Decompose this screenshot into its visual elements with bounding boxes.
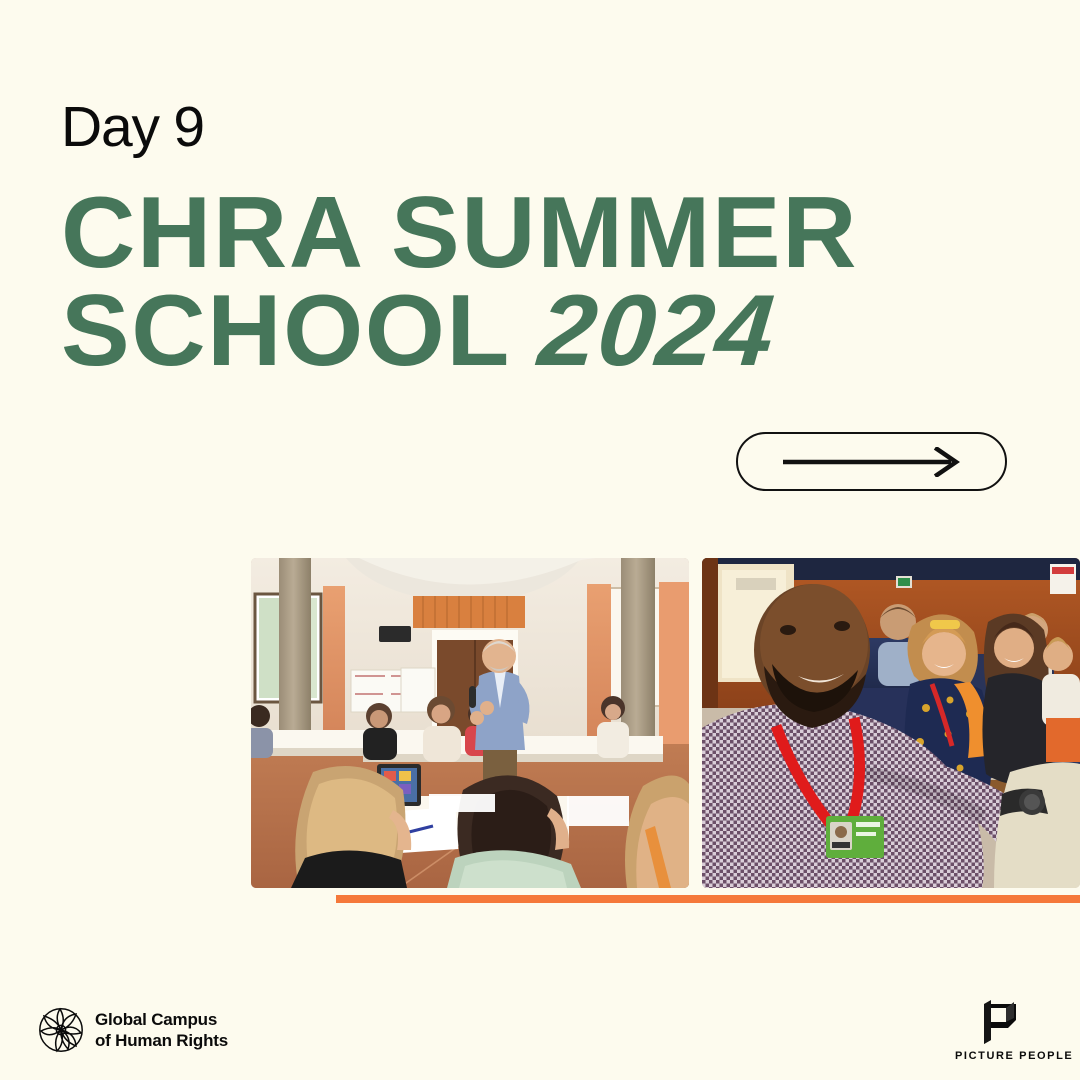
global-campus-logo: Global Campus of Human Rights [38,1007,228,1053]
picture-people-p-icon [955,1000,1045,1046]
page-title-line-1: CHRA SUMMER [61,184,959,282]
page-title-line-2: SCHOOL 2024 [61,282,959,380]
page-title-line-2-prefix: SCHOOL [61,275,539,387]
page-title-year: 2024 [535,282,779,380]
day-label: Day 9 [61,99,204,156]
accent-divider [336,895,1080,903]
global-campus-spiral-icon [38,1007,84,1053]
next-button[interactable] [736,432,1007,491]
classroom-seminar-photo [251,558,689,888]
picture-people-logo: PICTURE PEOPLE [955,1000,1045,1064]
picture-people-wordmark: PICTURE PEOPLE [955,1050,1073,1062]
auditorium-audience-photo [702,558,1080,888]
global-campus-wordmark-line-1: Global Campus [95,1010,217,1029]
global-campus-wordmark-line-2: of Human Rights [95,1031,228,1050]
page-title: CHRA SUMMER SCHOOL 2024 [61,184,959,380]
global-campus-wordmark: Global Campus of Human Rights [95,1009,228,1051]
slide-canvas: Day 9 CHRA SUMMER SCHOOL 2024 [0,0,1080,1080]
arrow-right-icon [781,447,963,477]
